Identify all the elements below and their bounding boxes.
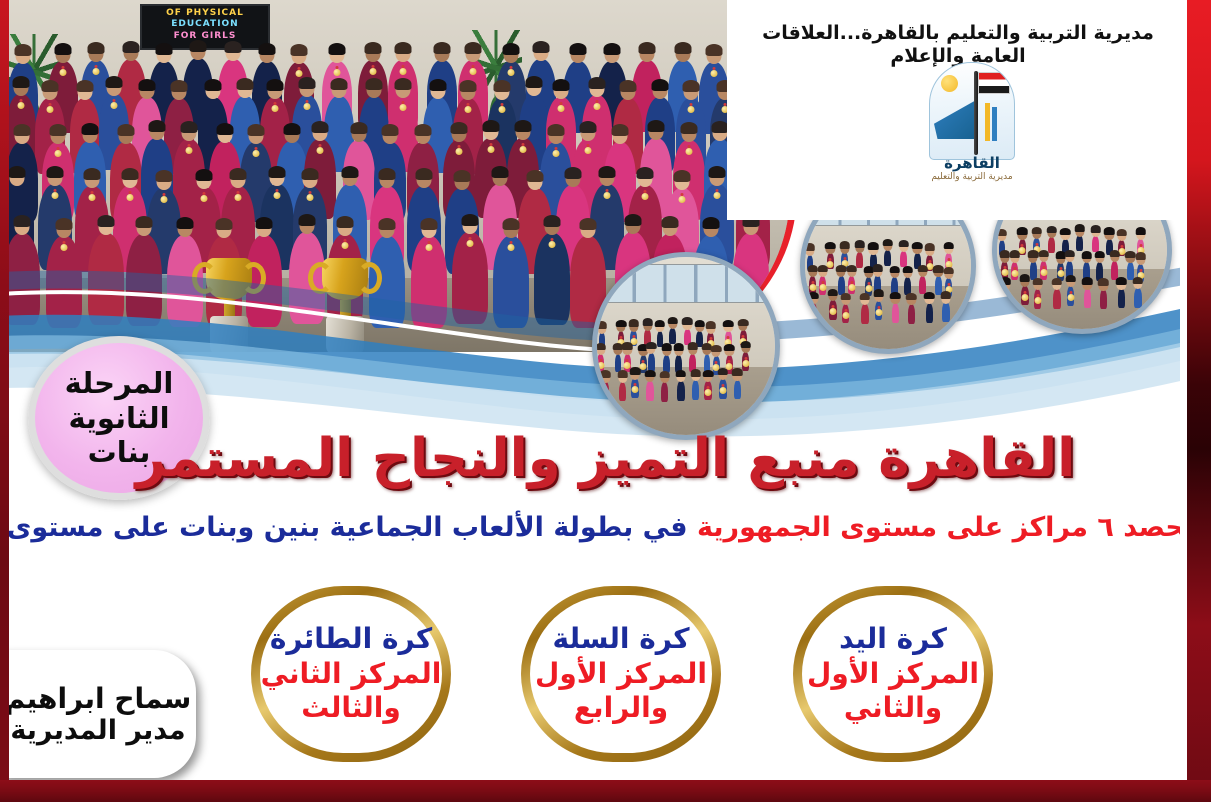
medal-icon [719, 387, 726, 394]
medal-icon [809, 284, 816, 291]
medal-icon [507, 69, 514, 76]
person-figure [856, 252, 863, 268]
medal-icon [631, 386, 638, 393]
person-figure [942, 302, 949, 322]
sport-badge-volleyball-sport: كرة الطائرة [270, 624, 432, 655]
medal-icon [742, 360, 749, 367]
frame-border-right [1187, 0, 1211, 802]
medal-icon [679, 196, 686, 203]
person-hair [941, 291, 952, 298]
medal-icon [18, 102, 25, 109]
medal-icon [295, 70, 302, 77]
person-hair [579, 218, 596, 230]
person-hair [740, 341, 751, 348]
medal-icon [201, 195, 208, 202]
person-hair [595, 343, 606, 350]
sport-badge-handball-rank-1: المركز الأول [807, 658, 979, 689]
medal-icon [597, 362, 604, 369]
person-hair [247, 124, 264, 136]
medal-icon [875, 309, 882, 316]
person-hair [225, 41, 242, 53]
medal-icon [686, 148, 693, 155]
person-hair [503, 218, 520, 230]
person-hair [122, 168, 139, 180]
person-hair [599, 166, 616, 178]
person-hair [882, 239, 893, 246]
medal-icon [848, 284, 855, 291]
frame-right-inner-gap [1180, 0, 1187, 780]
person-hair [603, 43, 620, 55]
person-hair [216, 123, 233, 135]
person-hair [706, 321, 717, 328]
person-figure [926, 303, 933, 323]
medal-icon [520, 146, 527, 153]
medal-icon [470, 68, 477, 75]
person-hair [97, 215, 114, 227]
header-block: مديرية التربية والتعليم بالقاهرة...العلا… [727, 0, 1187, 220]
person-hair [415, 168, 432, 180]
person-hair [515, 120, 532, 132]
medal-icon [455, 148, 462, 155]
medal-icon [487, 146, 494, 153]
person-hair [1098, 278, 1109, 285]
person-hair [597, 321, 608, 328]
person-hair [76, 80, 93, 92]
person-hair [600, 370, 611, 377]
cairo-education-logo-icon: القاهرة مديرية التربية والتعليم [907, 62, 1037, 194]
person-hair [933, 265, 944, 272]
person-hair [873, 289, 884, 296]
person-hair [118, 124, 135, 136]
medal-icon [465, 106, 472, 113]
person-hair [482, 120, 499, 132]
sport-badge-basketball-rank-1: المركز الأول [535, 658, 707, 689]
person-hair [229, 168, 246, 180]
sport-badge-basketball: كرة السلة المركز الأول والرابع [521, 586, 721, 762]
sport-badge-volleyball-rank-1: المركز الثاني [261, 658, 442, 689]
person-hair [54, 43, 71, 55]
medal-icon [466, 240, 473, 247]
person-figure [819, 276, 826, 295]
person-hair [723, 320, 734, 327]
person-figure [884, 250, 891, 266]
person-hair [569, 43, 586, 55]
pencil-icon-blue [992, 107, 997, 141]
person-figure [411, 236, 447, 328]
person-hair [299, 214, 316, 226]
person-hair [1032, 278, 1043, 285]
medal-icon [54, 150, 61, 157]
poster-root: OF PHYSICAL EDUCATION FOR GIRLS [0, 0, 1211, 802]
person-hair [364, 42, 381, 54]
person-hair [808, 292, 819, 299]
person-hair [711, 345, 722, 352]
sport-badge-handball-rank-2: والثاني [844, 692, 942, 723]
medal-icon [88, 194, 95, 201]
person-figure [1134, 288, 1141, 308]
medal-icon [602, 389, 609, 396]
sport-badge-basketball-sport: كرة السلة [553, 624, 690, 655]
person-hair [312, 121, 329, 133]
medal-icon [46, 106, 53, 113]
person-hair [13, 215, 30, 227]
person-hair [181, 121, 198, 133]
person-hair [366, 78, 383, 90]
person-hair [1094, 251, 1105, 258]
person-hair [642, 318, 653, 325]
medal-icon [594, 103, 601, 110]
logo-shield-shape [929, 62, 1015, 160]
person-figure [669, 328, 676, 344]
person-figure [1019, 239, 1026, 255]
person-hair [1116, 277, 1127, 284]
medal-icon [705, 389, 712, 396]
person-hair [434, 42, 451, 54]
medal-icon [426, 244, 433, 251]
medal-icon [865, 285, 872, 292]
medal-icon [584, 147, 591, 154]
person-hair [616, 320, 627, 327]
person-hair [1082, 277, 1093, 284]
person-hair [612, 124, 629, 136]
person-hair [378, 168, 395, 180]
medal-icon [552, 150, 559, 157]
person-hair [694, 320, 705, 327]
person-figure [1053, 289, 1060, 309]
person-figure [1011, 262, 1018, 281]
subtitle-part-red-1: تحصد ٦ مراكز على مستوى الجمهورية [697, 512, 1195, 543]
pencil-icon-yellow [985, 103, 990, 141]
person-figure [734, 380, 741, 400]
medal-icon [1019, 247, 1026, 254]
person-hair [341, 166, 358, 178]
person-hair [890, 292, 901, 299]
frame-border-left [0, 0, 9, 802]
person-hair [624, 214, 641, 226]
person-hair [1135, 252, 1146, 259]
person-figure [848, 276, 855, 295]
medal-icon [711, 70, 718, 77]
person-hair [690, 369, 701, 376]
person-hair [675, 42, 692, 54]
person-hair [1133, 277, 1144, 284]
person-hair [687, 342, 698, 349]
person-hair [284, 123, 301, 135]
person-hair [840, 293, 851, 300]
frame-border-bottom [0, 780, 1211, 802]
person-figure [1021, 286, 1028, 306]
person-hair [49, 124, 66, 136]
person-hair [1020, 274, 1031, 281]
person-figure [1118, 288, 1125, 308]
medal-icon [274, 192, 281, 199]
medal-icon [307, 194, 314, 201]
person-hair [682, 317, 693, 324]
person-hair [661, 343, 672, 350]
person-hair [329, 43, 346, 55]
person-hair [454, 170, 471, 182]
person-figure [1084, 288, 1091, 308]
medal-icon [1067, 294, 1074, 301]
medal-icon [1001, 269, 1008, 276]
person-hair [1028, 250, 1039, 257]
person-hair [82, 123, 99, 135]
person-hair [676, 370, 687, 377]
person-hair [1116, 229, 1127, 236]
person-hair [149, 120, 166, 132]
person-hair [14, 44, 31, 56]
person-figure [719, 379, 726, 399]
person-figure [452, 232, 488, 324]
person-hair [1038, 250, 1049, 257]
person-hair [8, 166, 25, 178]
person-hair [269, 166, 286, 178]
person-hair [828, 289, 839, 296]
person-hair [646, 342, 657, 349]
person-figure [861, 304, 868, 324]
person-hair [918, 265, 929, 272]
person-hair [681, 122, 698, 134]
medal-icon [234, 194, 241, 201]
person-figure [1067, 286, 1074, 306]
medal-icon [400, 68, 407, 75]
person-hair [674, 170, 691, 182]
person-hair [415, 124, 432, 136]
circle-photo-1 [592, 252, 780, 440]
person-hair [216, 218, 233, 230]
person-hair [525, 76, 542, 88]
person-hair [256, 217, 273, 229]
person-figure [742, 352, 749, 371]
person-hair [135, 216, 152, 228]
person-hair [1125, 251, 1136, 258]
person-figure [601, 381, 608, 401]
person-hair [83, 168, 100, 180]
person-hair [1052, 278, 1063, 285]
person-figure [1100, 289, 1107, 309]
person-hair [889, 266, 900, 273]
person-figure [646, 381, 653, 401]
person-figure [677, 381, 684, 401]
person-figure [46, 236, 82, 328]
person-hair [617, 370, 628, 377]
person-hair [673, 343, 684, 350]
medal-icon [1002, 297, 1009, 304]
person-hair [106, 76, 123, 88]
person-hair [718, 368, 729, 375]
person-hair [502, 43, 519, 55]
person-hair [636, 167, 653, 179]
person-hair [868, 242, 879, 249]
logo-subtext: مديرية التربية والتعليم [907, 172, 1037, 182]
person-hair [1110, 250, 1121, 257]
person-hair [450, 122, 467, 134]
person-hair [532, 41, 549, 53]
person-hair [1074, 224, 1085, 231]
person-hair [708, 166, 725, 178]
medal-icon [1034, 297, 1041, 304]
medal-icon [342, 242, 349, 249]
person-figure [1040, 261, 1047, 280]
person-hair [738, 319, 749, 326]
person-hair [706, 44, 723, 56]
medal-icon [334, 69, 341, 76]
person-figure [842, 304, 849, 324]
person-hair [1090, 225, 1101, 232]
person-hair [1065, 275, 1076, 282]
person-hair [429, 79, 446, 91]
medal-icon [127, 194, 134, 201]
person-figure [534, 233, 570, 325]
person-hair [258, 43, 275, 55]
person-figure [493, 236, 529, 328]
person-hair [493, 80, 510, 92]
person-hair [668, 317, 679, 324]
medal-icon [369, 68, 376, 75]
medal-icon [688, 106, 695, 113]
medal-icon [59, 69, 66, 76]
person-figure [692, 380, 699, 400]
person-figure [4, 233, 40, 325]
person-hair [661, 216, 678, 228]
person-hair [196, 169, 213, 181]
person-hair [331, 78, 348, 90]
person-figure [875, 301, 882, 321]
person-figure [661, 382, 668, 402]
medal-icon [810, 311, 817, 318]
medal-icon [317, 147, 324, 154]
person-hair [997, 229, 1008, 236]
sport-badge-handball: كرة اليد المركز الأول والثاني [793, 586, 993, 762]
logo-word-cairo: القاهرة [907, 154, 1037, 172]
page-title: القاهرة منبع التميز والنجاح المستمر [0, 428, 1211, 489]
medal-icon [1021, 294, 1028, 301]
medal-icon [558, 105, 565, 112]
person-figure [810, 303, 817, 323]
person-hair [421, 218, 438, 230]
person-hair [622, 342, 633, 349]
person-hair [659, 371, 670, 378]
medal-icon [827, 261, 834, 268]
medal-icon [640, 363, 647, 370]
person-hair [56, 218, 73, 230]
person-hair [817, 265, 828, 272]
person-figure [88, 233, 124, 325]
subtitle-part-blue: في بطولة الألعاب الجماعية بنين وبنات على… [0, 512, 688, 543]
person-hair [1104, 227, 1115, 234]
person-hair [491, 166, 508, 178]
person-hair [703, 217, 720, 229]
person-hair [1135, 227, 1146, 234]
person-hair [544, 215, 561, 227]
person-hair [1081, 251, 1092, 258]
person-hair [1060, 228, 1071, 235]
person-hair [395, 78, 412, 90]
medal-icon [111, 102, 118, 109]
person-hair [839, 241, 850, 248]
person-hair [872, 264, 883, 271]
subtitle-line: تحصد ٦ مراكز على مستوى الجمهورية في بطول… [10, 512, 1195, 543]
person-hair [13, 76, 30, 88]
person-hair [805, 243, 816, 250]
person-figure [1076, 235, 1083, 251]
medal-icon [508, 244, 515, 251]
person-hair [1031, 227, 1042, 234]
medal-icon [271, 105, 278, 112]
person-hair [138, 79, 155, 91]
sport-badge-volleyball: كرة الطائرة المركز الثاني والثالث [251, 586, 451, 762]
person-figure [827, 253, 834, 269]
person-hair [1009, 250, 1020, 257]
medal-icon [252, 150, 259, 157]
medal-icon [1040, 269, 1047, 276]
person-hair [41, 80, 58, 92]
person-hair [189, 40, 206, 52]
person-hair [854, 240, 865, 247]
person-hair [906, 293, 917, 300]
person-figure [908, 304, 915, 324]
person-hair [655, 320, 666, 327]
person-hair [547, 124, 564, 136]
person-hair [337, 216, 354, 228]
trophy-left [206, 258, 252, 352]
person-hair [652, 79, 669, 91]
signature-badge: سماح ابراهيم مدير المديرية [0, 650, 196, 778]
person-hair [177, 217, 194, 229]
person-figure [1048, 237, 1055, 253]
person-figure [126, 234, 162, 326]
signature-name: سماح ابراهيم [5, 682, 192, 715]
person-hair [13, 124, 30, 136]
sport-badge-handball-sport: كرة اليد [839, 624, 947, 655]
person-hair [943, 242, 954, 249]
signature-role: مدير المديرية [10, 715, 185, 747]
person-hair [204, 79, 221, 91]
person-hair [170, 80, 187, 92]
person-hair [732, 368, 743, 375]
sail-icon [934, 99, 978, 139]
person-hair [460, 80, 477, 92]
person-hair [155, 170, 172, 182]
person-figure [704, 381, 711, 401]
person-hair [703, 370, 714, 377]
person-hair [395, 42, 412, 54]
sun-icon [941, 75, 958, 92]
person-hair [122, 41, 139, 53]
person-hair [860, 293, 871, 300]
person-figure [892, 303, 899, 323]
person-figure [631, 378, 638, 398]
person-hair [825, 242, 836, 249]
person-hair [46, 166, 63, 178]
person-hair [1017, 227, 1028, 234]
person-hair [912, 242, 923, 249]
person-hair [290, 44, 307, 56]
person-hair [381, 124, 398, 136]
medal-icon [604, 192, 611, 199]
person-hair [683, 80, 700, 92]
person-hair [724, 344, 735, 351]
medal-icon [1011, 270, 1018, 277]
person-hair [846, 265, 857, 272]
person-hair [943, 267, 954, 274]
trophy-right [322, 258, 368, 352]
person-figure [619, 382, 626, 402]
person-hair [836, 265, 847, 272]
person-hair [1000, 277, 1011, 284]
person-hair [237, 78, 254, 90]
medal-icon [61, 244, 68, 251]
